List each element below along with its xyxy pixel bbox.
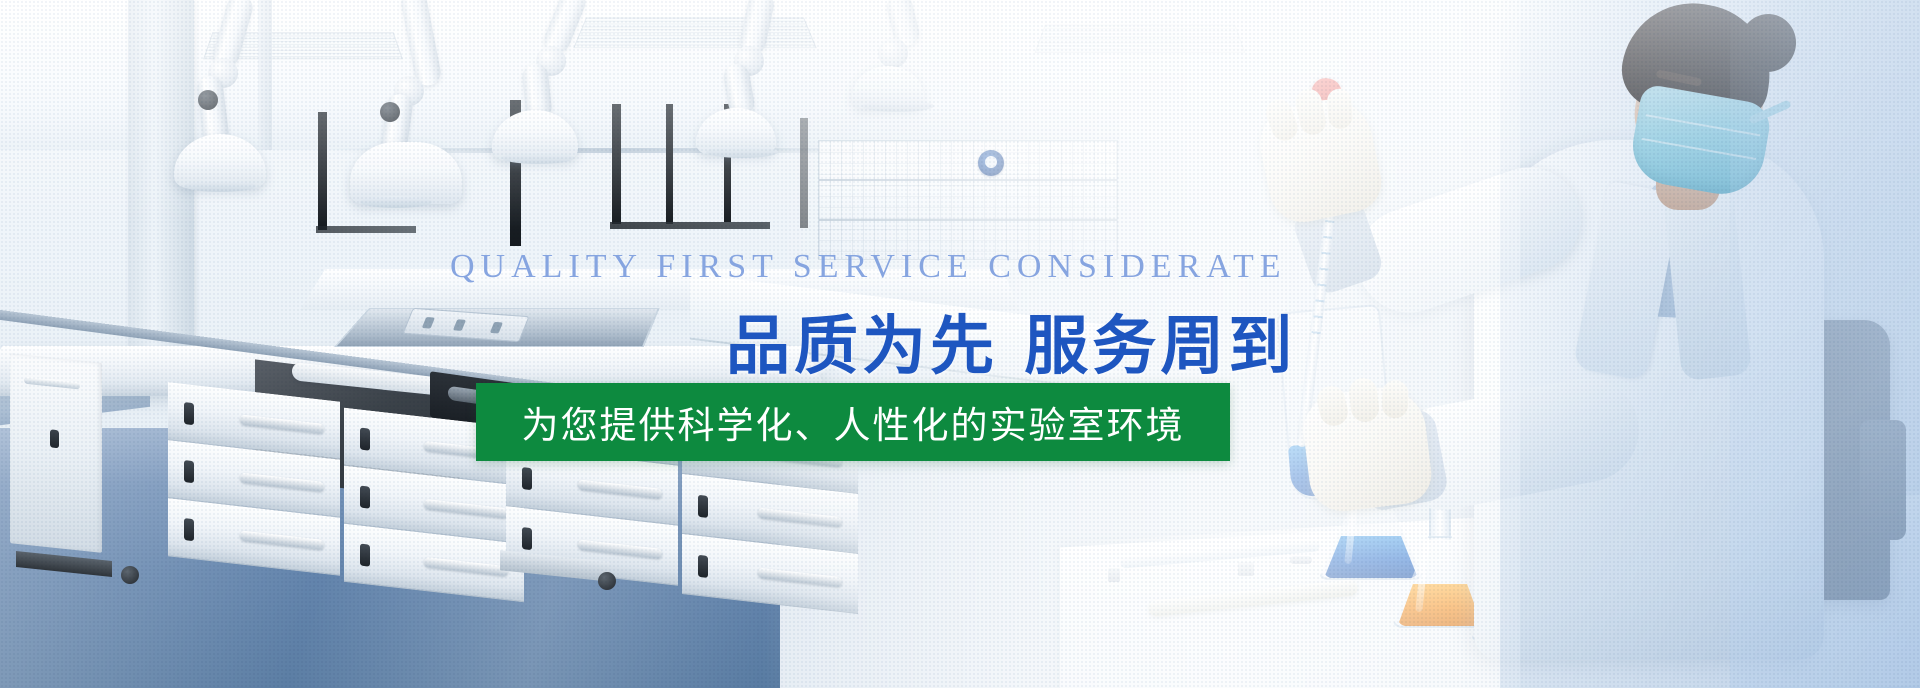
banner-subtitle-bar: 为您提供科学化、人性化的实验室环境	[476, 383, 1230, 461]
banner-subtitle-text: 为您提供科学化、人性化的实验室环境	[522, 395, 1185, 449]
promotional-banner: QUALITY FIRST SERVICE CONSIDERATE 品质为先 服…	[0, 0, 1920, 688]
banner-eyebrow-english: QUALITY FIRST SERVICE CONSIDERATE	[450, 248, 1287, 286]
banner-copy: QUALITY FIRST SERVICE CONSIDERATE 品质为先 服…	[0, 0, 1920, 688]
banner-headline: 品质为先 服务周到	[726, 295, 1296, 387]
